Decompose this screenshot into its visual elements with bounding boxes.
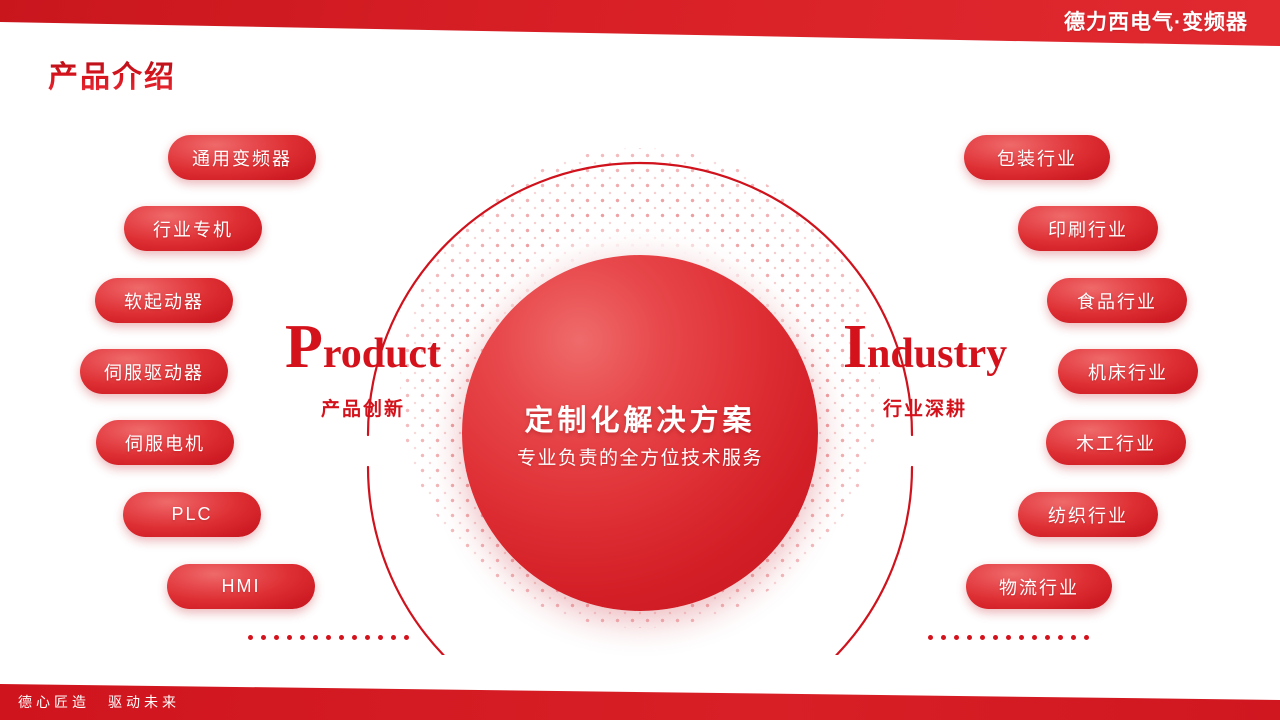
industry-pill[interactable]: 食品行业 bbox=[1047, 278, 1187, 323]
industry-heading-capital: I bbox=[843, 313, 867, 381]
center-title: 定制化解决方案 bbox=[524, 397, 755, 439]
separator-dot bbox=[339, 635, 344, 640]
industry-heading-cn: 行业深耕 bbox=[820, 394, 1030, 421]
center-subtitle: 专业负责的全方位技术服务 bbox=[517, 443, 763, 470]
separator-dot bbox=[365, 635, 370, 640]
product-heading-rest: roduct bbox=[323, 331, 441, 377]
center-sphere: 定制化解决方案 专业负责的全方位技术服务 bbox=[462, 255, 818, 611]
product-dotted-separator bbox=[248, 635, 409, 640]
product-pill[interactable]: 伺服驱动器 bbox=[80, 349, 228, 394]
industry-pill[interactable]: 纺织行业 bbox=[1018, 492, 1158, 537]
industry-heading-en: Industry bbox=[820, 316, 1030, 378]
separator-dot bbox=[1045, 635, 1050, 640]
separator-dot bbox=[993, 635, 998, 640]
industry-pill[interactable]: 木工行业 bbox=[1046, 420, 1186, 465]
page-title: 产品介绍 bbox=[48, 52, 176, 96]
separator-dot bbox=[300, 635, 305, 640]
separator-dot bbox=[1084, 635, 1089, 640]
industry-pill[interactable]: 包装行业 bbox=[964, 135, 1110, 180]
separator-dot bbox=[261, 635, 266, 640]
separator-dot bbox=[1006, 635, 1011, 640]
separator-dot bbox=[378, 635, 383, 640]
product-pill[interactable]: 行业专机 bbox=[124, 206, 262, 251]
product-heading-capital: P bbox=[285, 313, 323, 381]
slide-root: 德力西电气·变频器 产品介绍 定制化解决方案 专业负责的全方位技术服务 Prod… bbox=[0, 0, 1280, 720]
product-pill[interactable]: 通用变频器 bbox=[168, 135, 316, 180]
separator-dot bbox=[287, 635, 292, 640]
product-pill[interactable]: 软起动器 bbox=[95, 278, 233, 323]
product-pill[interactable]: 伺服电机 bbox=[96, 420, 234, 465]
separator-dot bbox=[1032, 635, 1037, 640]
separator-dot bbox=[248, 635, 253, 640]
separator-dot bbox=[1071, 635, 1076, 640]
product-pill[interactable]: PLC bbox=[123, 492, 261, 537]
separator-dot bbox=[1019, 635, 1024, 640]
product-heading-en: Product bbox=[258, 316, 468, 378]
brand-logo: 德力西电气·变频器 bbox=[1064, 6, 1248, 36]
product-pill[interactable]: HMI bbox=[167, 564, 315, 609]
footer-bar bbox=[0, 678, 1280, 720]
footer-slogan: 德心匠造 驱动未来 bbox=[18, 692, 180, 712]
industry-heading-rest: ndustry bbox=[867, 331, 1007, 377]
separator-dot bbox=[967, 635, 972, 640]
separator-dot bbox=[313, 635, 318, 640]
separator-dot bbox=[941, 635, 946, 640]
industry-heading-group: Industry 行业深耕 bbox=[820, 316, 1030, 421]
industry-pill[interactable]: 机床行业 bbox=[1058, 349, 1198, 394]
separator-dot bbox=[954, 635, 959, 640]
separator-dot bbox=[326, 635, 331, 640]
industry-pill[interactable]: 印刷行业 bbox=[1018, 206, 1158, 251]
product-heading-cn: 产品创新 bbox=[258, 394, 468, 421]
separator-dot bbox=[274, 635, 279, 640]
separator-dot bbox=[391, 635, 396, 640]
separator-dot bbox=[404, 635, 409, 640]
separator-dot bbox=[980, 635, 985, 640]
separator-dot bbox=[352, 635, 357, 640]
industry-dotted-separator bbox=[928, 635, 1089, 640]
separator-dot bbox=[1058, 635, 1063, 640]
product-heading-group: Product 产品创新 bbox=[258, 316, 468, 421]
industry-pill[interactable]: 物流行业 bbox=[966, 564, 1112, 609]
separator-dot bbox=[928, 635, 933, 640]
